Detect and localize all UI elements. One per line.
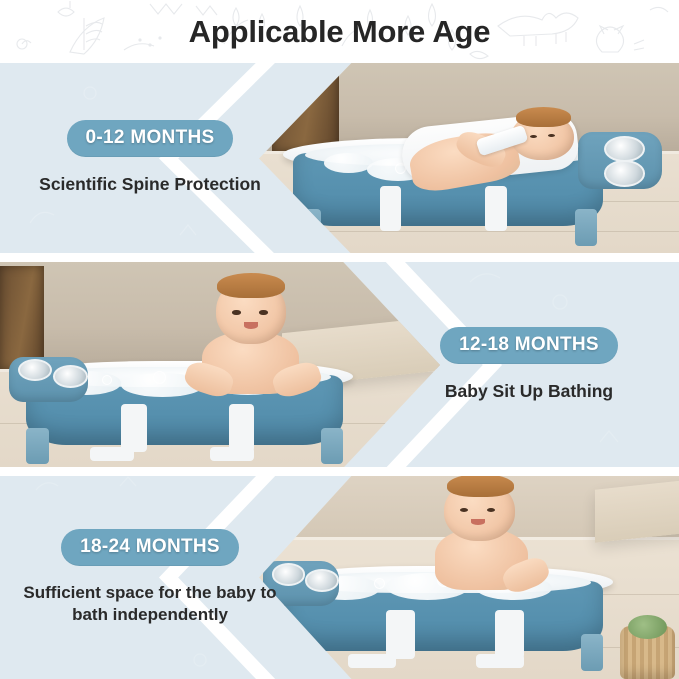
product-photo-18-24-months xyxy=(259,476,679,679)
caption-12-18-months: Baby Sit Up Bathing xyxy=(445,380,613,403)
woven-basket xyxy=(620,626,675,679)
product-photo-0-12-months xyxy=(259,63,679,254)
age-row-12-18-months: 12-18 MONTHS Baby Sit Up Bathing xyxy=(0,262,679,468)
age-row-0-12-months: 0-12 MONTHS Scientific Spine Protection xyxy=(0,63,679,254)
infographic-page: Applicable More Age xyxy=(0,0,679,679)
frog-eye-right xyxy=(53,365,88,388)
frog-eye-right xyxy=(305,569,338,591)
age-badge-0-12-months: 0-12 MONTHS xyxy=(67,120,234,157)
copy-block-12-18-months: 12-18 MONTHS Baby Sit Up Bathing xyxy=(379,262,679,468)
age-badge-12-18-months: 12-18 MONTHS xyxy=(440,327,618,364)
age-row-18-24-months: 18-24 MONTHS Sufficient space for the ba… xyxy=(0,476,679,679)
row-divider-2 xyxy=(0,467,679,476)
caption-0-12-months: Scientific Spine Protection xyxy=(39,173,261,196)
copy-block-0-12-months: 0-12 MONTHS Scientific Spine Protection xyxy=(0,63,300,254)
age-badge-18-24-months: 18-24 MONTHS xyxy=(61,529,239,566)
header: Applicable More Age xyxy=(0,0,679,63)
row-divider-1 xyxy=(0,253,679,262)
baby-head xyxy=(444,480,515,541)
product-photo-12-18-months xyxy=(0,262,440,468)
caption-18-24-months: Sufficient space for the baby to bath in… xyxy=(5,582,295,627)
copy-block-18-24-months: 18-24 MONTHS Sufficient space for the ba… xyxy=(0,476,300,679)
page-title: Applicable More Age xyxy=(0,0,679,63)
baby-head xyxy=(216,278,286,344)
